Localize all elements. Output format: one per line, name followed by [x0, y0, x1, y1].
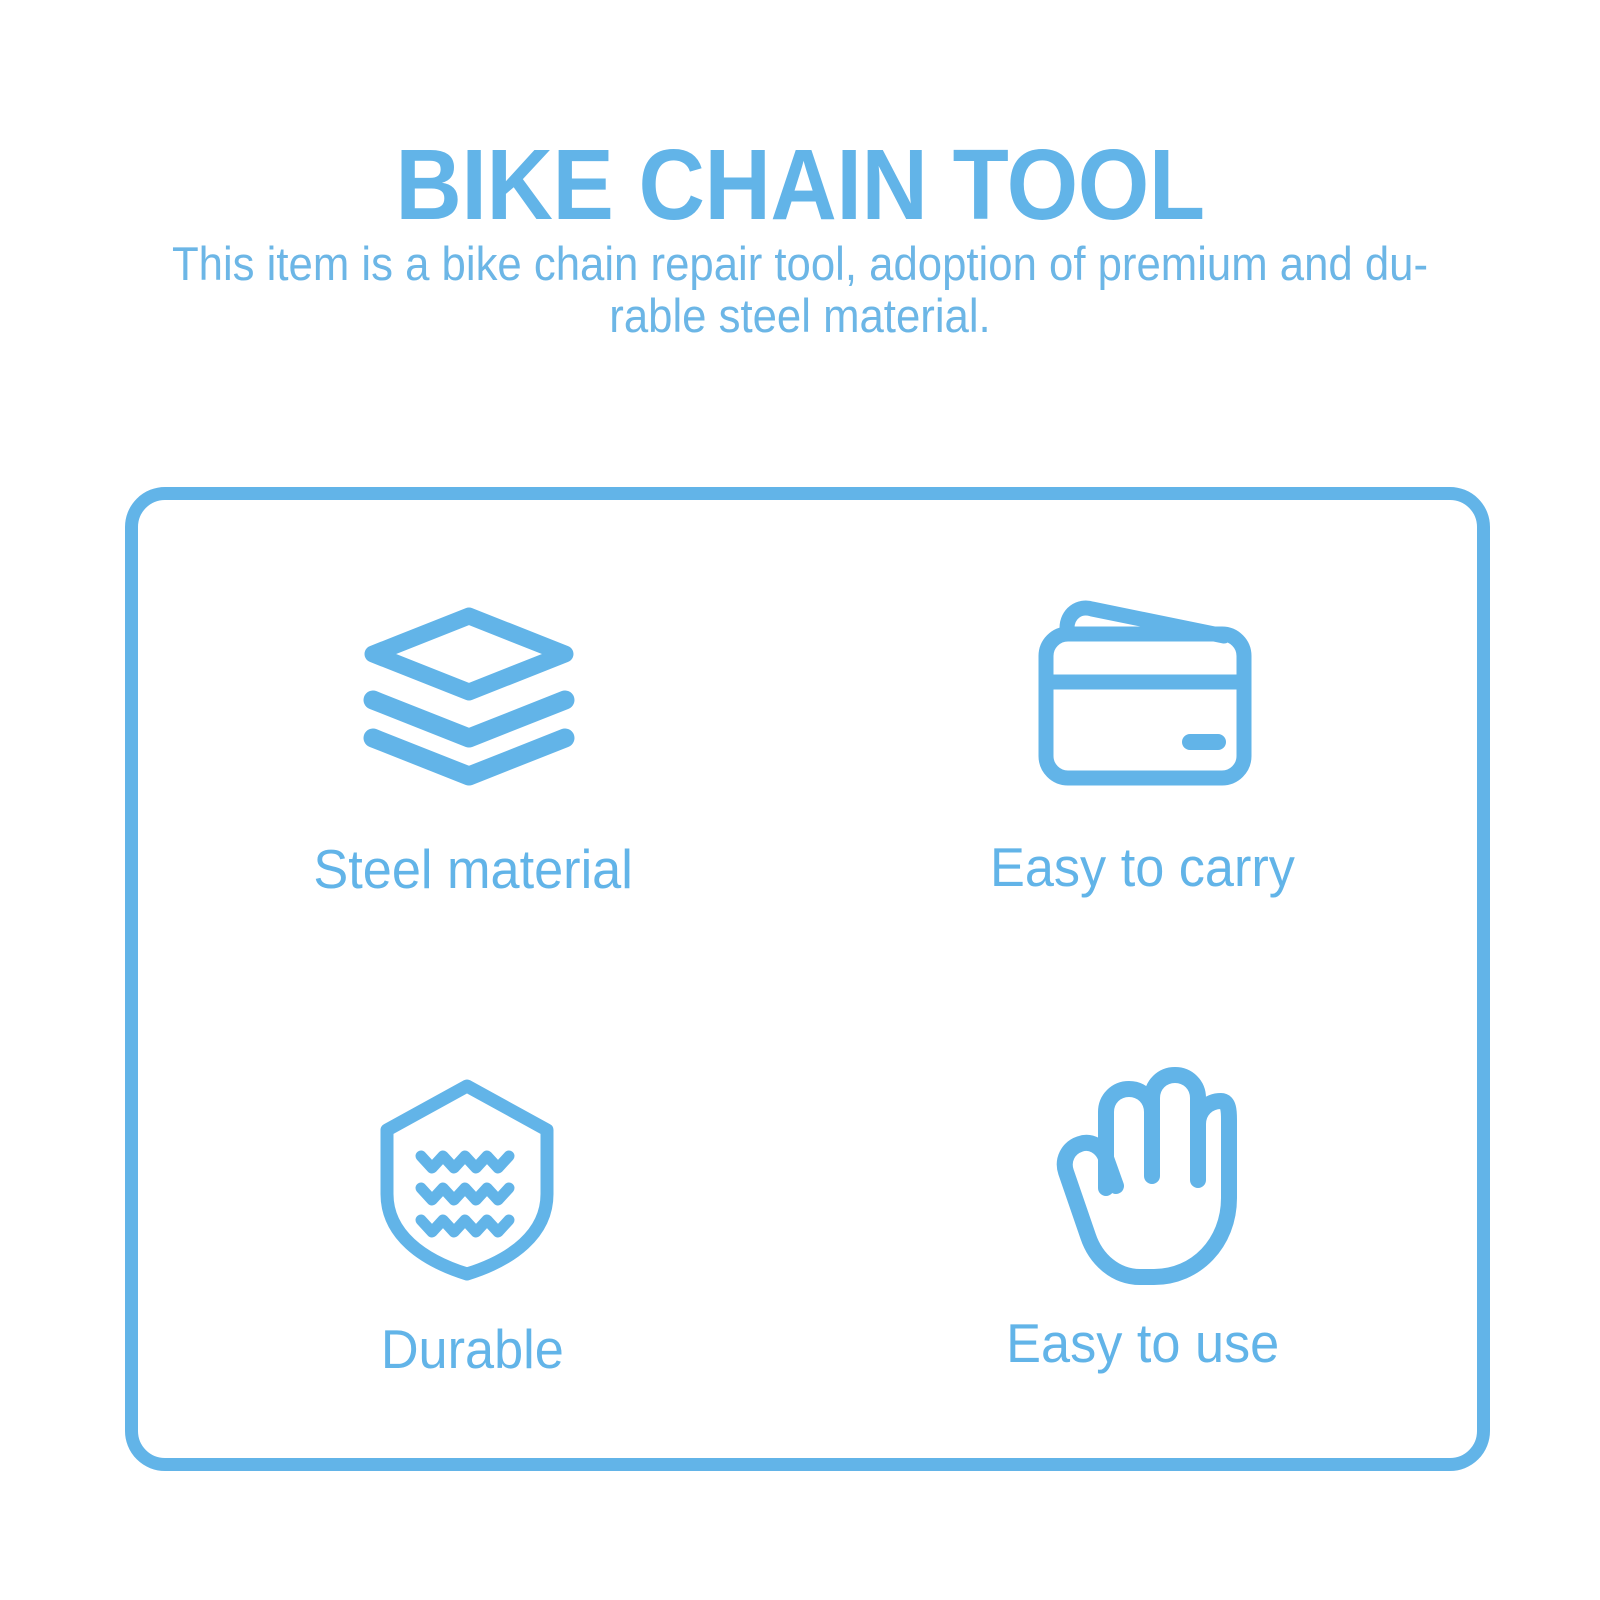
shield-waves-icon — [352, 1065, 582, 1295]
open-hand-icon — [1030, 1061, 1260, 1291]
page-subtitle: This item is a bike chain repair tool, a… — [158, 238, 1441, 342]
product-feature-infographic: BIKE CHAIN TOOL This item is a bike chai… — [0, 0, 1600, 1600]
page-title: BIKE CHAIN TOOL — [64, 133, 1536, 237]
feature-label-easy-to-carry: Easy to carry — [990, 837, 1295, 897]
feature-item-durable: Durable — [138, 979, 808, 1458]
feature-card: Steel material Easy to car — [125, 487, 1490, 1471]
page-subtitle-line-2: rable steel material. — [158, 290, 1441, 342]
wallet-icon — [1030, 573, 1260, 803]
feature-item-steel-material: Steel material — [138, 500, 808, 979]
feature-label-durable: Durable — [381, 1319, 564, 1379]
feature-grid: Steel material Easy to car — [138, 500, 1477, 1458]
page-subtitle-line-1: This item is a bike chain repair tool, a… — [158, 238, 1441, 290]
layers-icon — [354, 581, 584, 811]
feature-item-easy-to-carry: Easy to carry — [808, 500, 1478, 979]
feature-label-steel-material: Steel material — [313, 839, 632, 899]
feature-label-easy-to-use: Easy to use — [1006, 1313, 1279, 1373]
feature-item-easy-to-use: Easy to use — [808, 979, 1478, 1458]
